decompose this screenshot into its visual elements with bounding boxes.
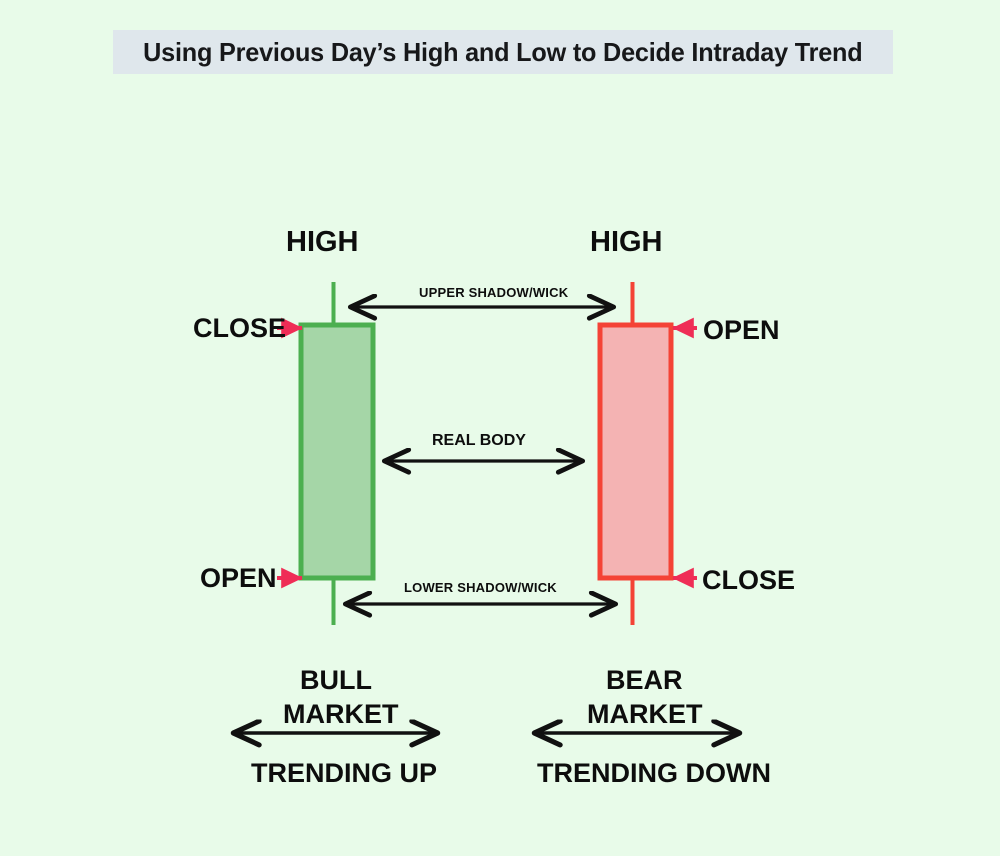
label-upper-shadow: UPPER SHADOW/WICK xyxy=(419,286,568,299)
label-bearish-open: OPEN xyxy=(703,317,780,344)
diagram-canvas: Using Previous Day’s High and Low to Dec… xyxy=(0,0,1000,856)
label-bull-trend: TRENDING UP xyxy=(251,760,437,787)
label-bullish-close: CLOSE xyxy=(193,315,286,342)
page-title: Using Previous Day’s High and Low to Dec… xyxy=(143,37,862,68)
label-lower-shadow: LOWER SHADOW/WICK xyxy=(404,581,557,594)
label-bearish-high: HIGH xyxy=(590,228,663,257)
candlestick-vector-layer xyxy=(0,0,1000,856)
bullish-body xyxy=(301,325,373,578)
bearish-body xyxy=(600,325,671,578)
label-real-body: REAL BODY xyxy=(432,433,526,449)
bullish-candle xyxy=(301,282,373,625)
label-bullish-high: HIGH xyxy=(286,228,359,257)
label-bear-market-line1: BEAR xyxy=(606,667,683,694)
label-bull-market-line1: BULL xyxy=(300,667,372,694)
label-bull-market-line2: MARKET xyxy=(283,701,399,728)
label-bullish-open: OPEN xyxy=(200,565,277,592)
page-title-bar: Using Previous Day’s High and Low to Dec… xyxy=(113,30,893,74)
bearish-candle xyxy=(600,282,671,625)
label-bear-trend: TRENDING DOWN xyxy=(537,760,771,787)
label-bearish-close: CLOSE xyxy=(702,567,795,594)
label-bear-market-line2: MARKET xyxy=(587,701,703,728)
